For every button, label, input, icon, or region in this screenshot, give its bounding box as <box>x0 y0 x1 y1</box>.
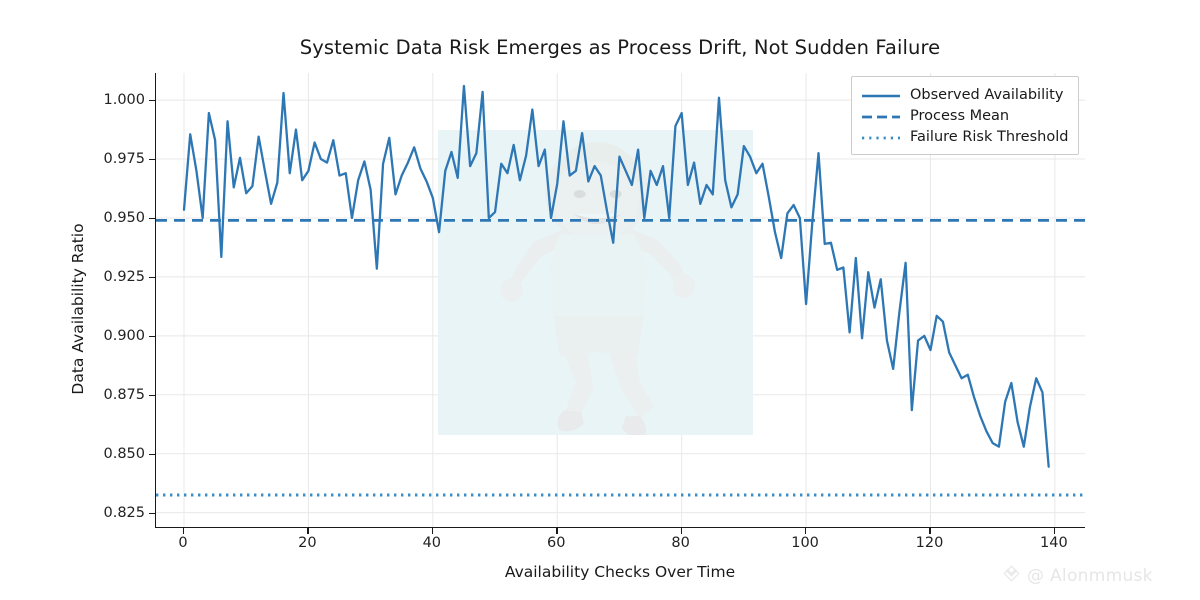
watermark-text: @ Alonmmusk <box>1027 566 1153 586</box>
x-tick-mark <box>432 528 433 534</box>
y-tick-label: 0.950 <box>85 210 145 226</box>
y-tick-label: 1.000 <box>85 92 145 108</box>
diamond-logo-icon <box>1002 564 1021 587</box>
chart-figure: Systemic Data Risk Emerges as Process Dr… <box>0 0 1200 600</box>
y-tick-label: 0.975 <box>85 151 145 167</box>
x-tick-label: 40 <box>402 535 462 551</box>
x-tick-label: 140 <box>1024 535 1084 551</box>
x-tick-mark <box>681 528 682 534</box>
x-tick-label: 20 <box>277 535 337 551</box>
legend-label-observed-availability: Observed Availability <box>910 87 1063 103</box>
x-tick-label: 0 <box>153 535 213 551</box>
chart-legend[interactable]: Observed Availability Process Mean Failu… <box>851 76 1079 155</box>
legend-label-process-mean: Process Mean <box>910 108 1009 124</box>
x-tick-mark <box>929 528 930 534</box>
x-tick-mark <box>805 528 806 534</box>
legend-item-process-mean[interactable]: Process Mean <box>861 105 1068 126</box>
x-axis-label: Availability Checks Over Time <box>155 563 1085 581</box>
y-tick-label: 0.825 <box>85 505 145 521</box>
chart-title: Systemic Data Risk Emerges as Process Dr… <box>155 36 1085 59</box>
y-tick-label: 0.925 <box>85 269 145 285</box>
y-tick-label: 0.850 <box>85 446 145 462</box>
x-tick-mark <box>183 528 184 534</box>
x-tick-label: 60 <box>526 535 586 551</box>
y-tick-label: 0.875 <box>85 387 145 403</box>
x-tick-mark <box>307 528 308 534</box>
x-tick-label: 100 <box>775 535 835 551</box>
legend-item-failure-risk-threshold[interactable]: Failure Risk Threshold <box>861 126 1068 147</box>
legend-swatch-solid-icon <box>861 88 901 102</box>
legend-swatch-dashed-icon <box>861 109 901 123</box>
x-tick-mark <box>1054 528 1055 534</box>
legend-item-observed-availability[interactable]: Observed Availability <box>861 84 1068 105</box>
watermark: @ Alonmmusk <box>1002 564 1153 587</box>
x-tick-label: 80 <box>651 535 711 551</box>
y-tick-label: 0.900 <box>85 328 145 344</box>
x-tick-label: 120 <box>899 535 959 551</box>
legend-label-failure-risk-threshold: Failure Risk Threshold <box>910 129 1068 145</box>
legend-swatch-dotted-icon <box>861 130 901 144</box>
x-tick-mark <box>556 528 557 534</box>
